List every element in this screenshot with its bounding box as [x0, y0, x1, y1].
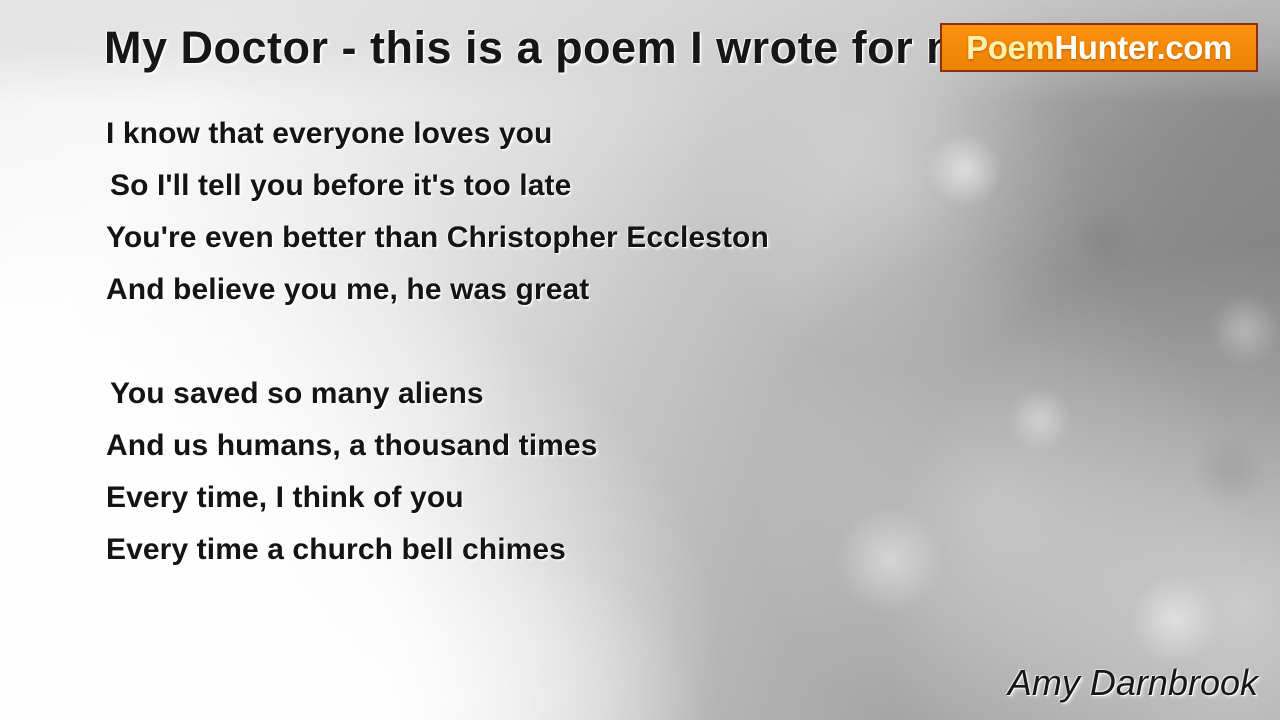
- poem-author-name: Amy Darnbrook: [1008, 662, 1258, 704]
- poem-line: You saved so many aliens: [106, 368, 906, 420]
- poem-stanza: You saved so many aliens And us humans, …: [106, 368, 906, 576]
- stanza-separator: [106, 316, 906, 368]
- poemhunter-watermark-text-poem: Poem: [966, 29, 1054, 66]
- poemhunter-watermark-text-hunter: Hunter.com: [1054, 29, 1232, 66]
- poem-line: So I'll tell you before it's too late: [106, 160, 906, 212]
- poem-stanza: I know that everyone loves you So I'll t…: [106, 108, 906, 316]
- poem-line: And believe you me, he was great: [106, 264, 906, 316]
- poem-body: I know that everyone loves you So I'll t…: [106, 108, 906, 576]
- poem-line: Every time a church bell chimes: [106, 524, 906, 576]
- poem-line: Every time, I think of you: [106, 472, 906, 524]
- poemhunter-watermark-text: PoemHunter.com: [966, 31, 1232, 64]
- poem-line: You're even better than Christopher Eccl…: [106, 212, 906, 264]
- poem-line: And us humans, a thousand times: [106, 420, 906, 472]
- poem-title: My Doctor - this is a poem I wrote for m: [104, 22, 967, 74]
- poem-line: I know that everyone loves you: [106, 108, 906, 160]
- poemhunter-watermark-badge[interactable]: PoemHunter.com: [940, 23, 1258, 72]
- poem-image-canvas: My Doctor - this is a poem I wrote for m…: [0, 0, 1280, 720]
